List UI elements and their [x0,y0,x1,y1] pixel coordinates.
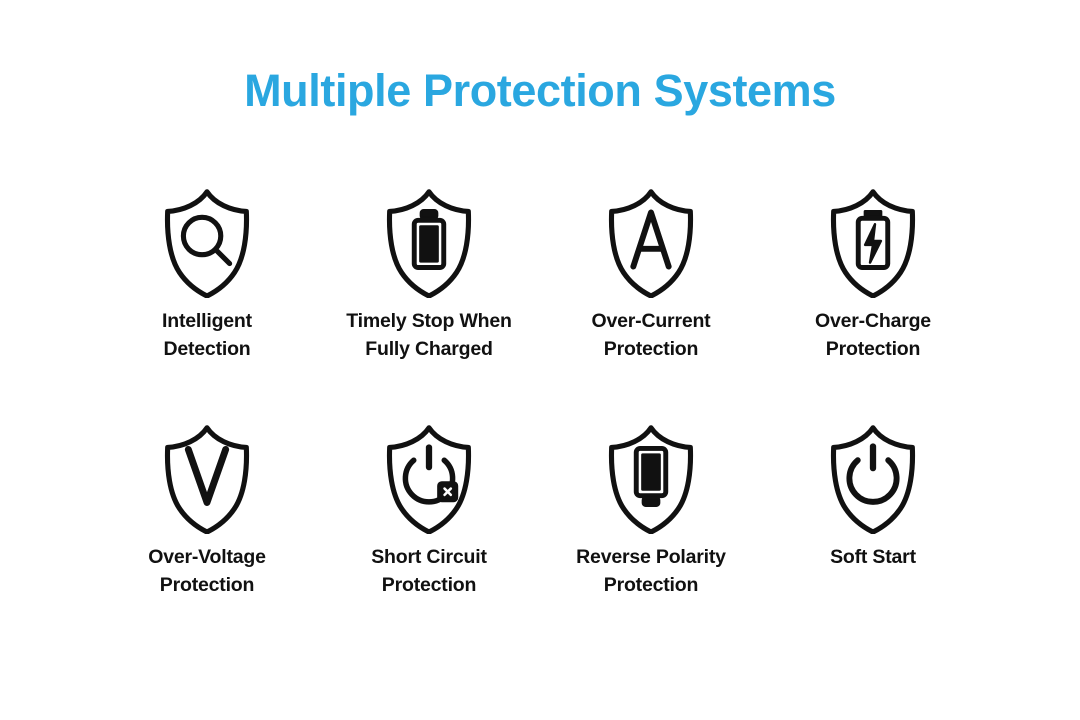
feature-label: Over-Charge Protection [815,307,931,364]
feature-label: Timely Stop When Fully Charged [346,307,511,364]
feature-over-charge-protection: Over-Charge Protection [762,180,984,416]
feature-intelligent-detection: Intelligent Detection [96,180,318,416]
feature-short-circuit-protection: Short Circuit Protection [318,416,540,652]
shield-battery-bolt-icon [814,180,932,298]
shield-letter-a-icon [592,180,710,298]
feature-label: Short Circuit Protection [371,543,487,600]
shield-full-battery-icon [370,180,488,298]
features-grid: Intelligent Detection Timely Stop When F… [96,180,984,652]
shield-power-x-icon [370,416,488,534]
page-title: Multiple Protection Systems [0,66,1080,116]
feature-label: Over-Voltage Protection [148,543,266,600]
protection-systems-poster: Multiple Protection Systems Intelligent … [0,0,1080,720]
feature-soft-start: Soft Start [762,416,984,652]
feature-over-current-protection: Over-Current Protection [540,180,762,416]
shield-reverse-battery-icon [592,416,710,534]
feature-label: Reverse Polarity Protection [576,543,726,600]
feature-label: Soft Start [830,543,916,571]
feature-timely-stop-fully-charged: Timely Stop When Fully Charged [318,180,540,416]
shield-power-icon [814,416,932,534]
feature-over-voltage-protection: Over-Voltage Protection [96,416,318,652]
feature-reverse-polarity-protection: Reverse Polarity Protection [540,416,762,652]
feature-label: Intelligent Detection [162,307,252,364]
shield-magnifier-icon [148,180,266,298]
shield-letter-v-icon [148,416,266,534]
feature-label: Over-Current Protection [592,307,711,364]
